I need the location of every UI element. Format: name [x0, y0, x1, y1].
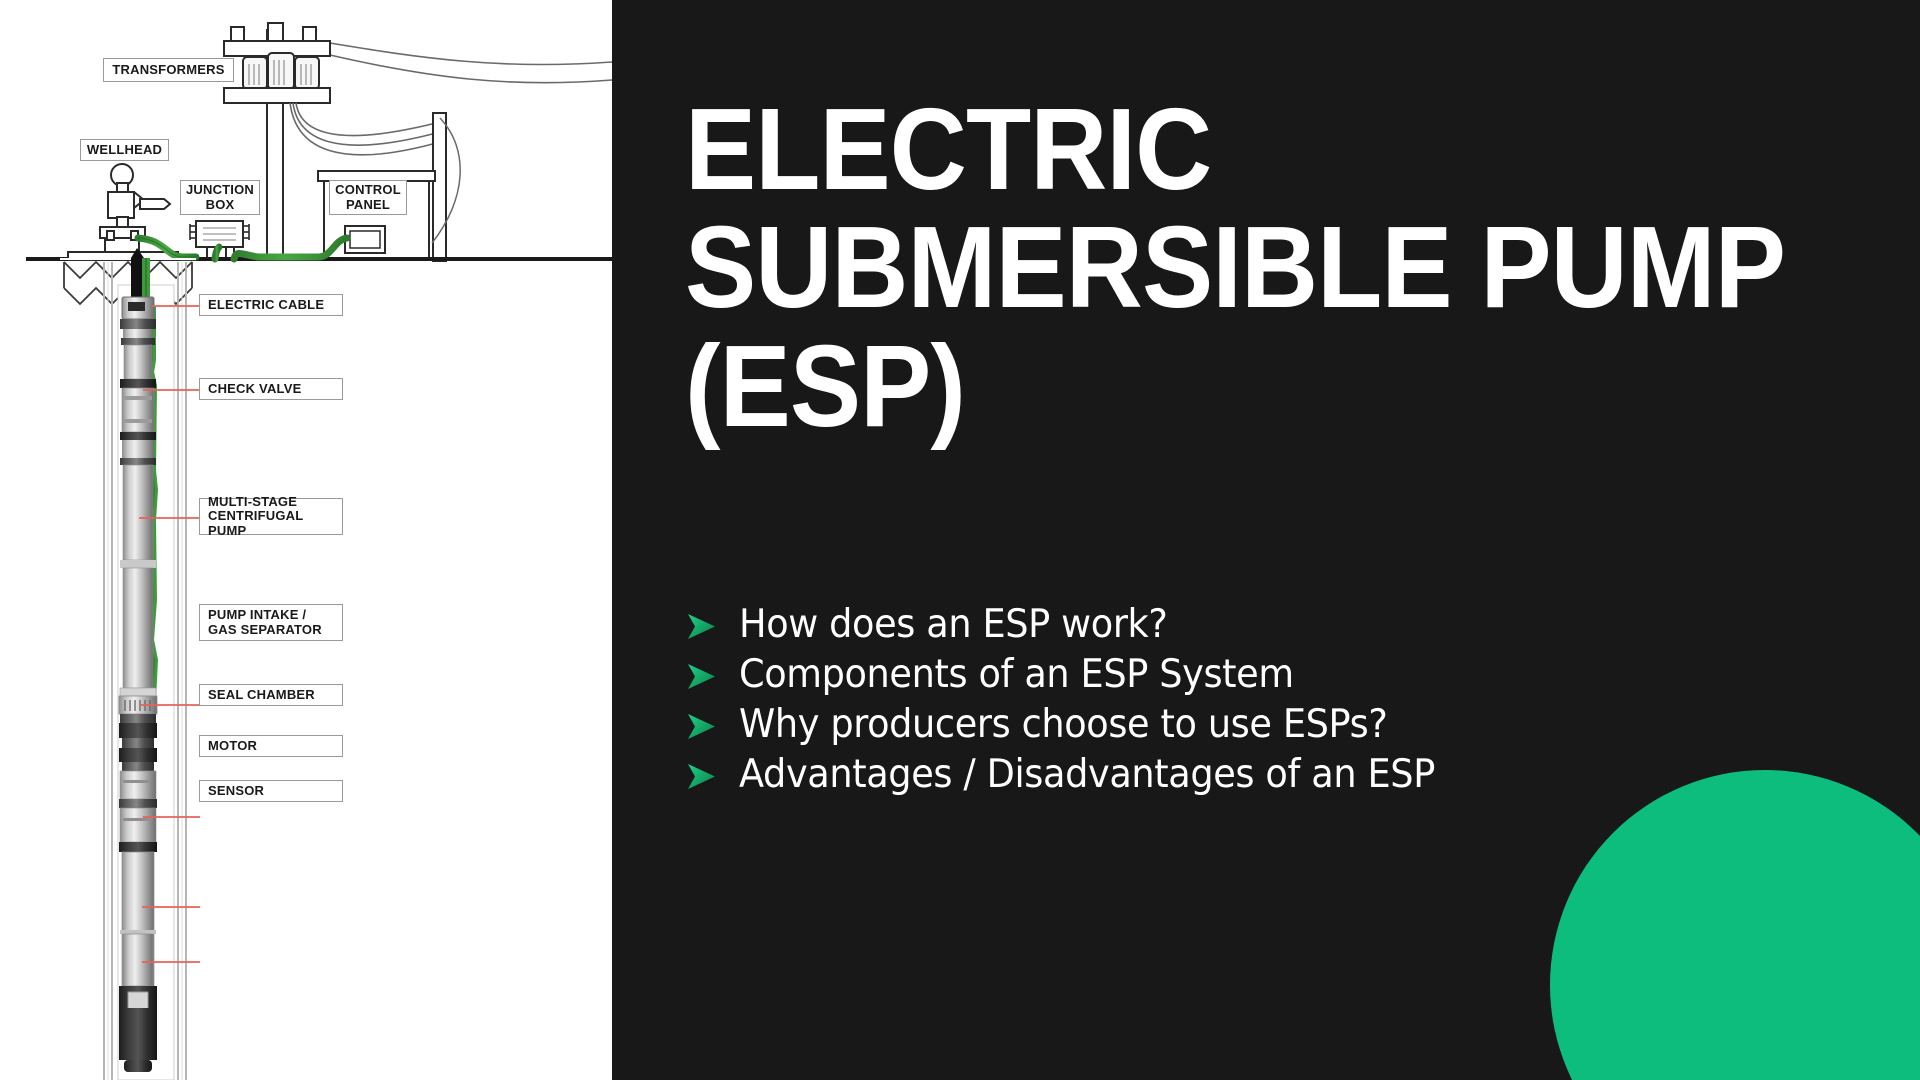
esp-equipment-string — [119, 297, 157, 1072]
slide-root: TRANSFORMERS WELLHEAD JUNCTION BOX CONTR… — [0, 0, 1920, 1080]
esp-schematic-drawing — [0, 0, 612, 1080]
label-electric-cable: ELECTRIC CABLE — [199, 294, 343, 316]
list-item: Advantages / Disadvantages of an ESP — [685, 755, 1865, 794]
arrow-right-icon — [685, 712, 717, 742]
list-item: Why producers choose to use ESPs? — [685, 705, 1865, 744]
label-junction-box: JUNCTION BOX — [180, 180, 260, 215]
arrow-right-icon — [685, 612, 717, 642]
title-line-2: SUBMERSIBLE PUMP — [685, 208, 1798, 326]
list-item-label: Advantages / Disadvantages of an ESP — [739, 755, 1435, 794]
label-pump-intake: PUMP INTAKE / GAS SEPARATOR — [199, 604, 343, 641]
title-panel: ELECTRIC SUBMERSIBLE PUMP (ESP) How — [612, 0, 1920, 1080]
list-item-label: Why producers choose to use ESPs? — [739, 705, 1387, 744]
list-item-label: How does an ESP work? — [739, 605, 1167, 644]
arrow-right-icon — [685, 762, 717, 792]
title-line-1: ELECTRIC — [685, 90, 1798, 208]
title-line-3: (ESP) — [685, 327, 1798, 445]
list-item: How does an ESP work? — [685, 605, 1865, 644]
page-title: ELECTRIC SUBMERSIBLE PUMP (ESP) — [685, 90, 1798, 445]
label-motor: MOTOR — [199, 735, 343, 757]
decorative-green-circle — [1550, 770, 1920, 1080]
arrow-right-icon — [685, 662, 717, 692]
label-control-panel: CONTROL PANEL — [329, 180, 407, 215]
list-item: Components of an ESP System — [685, 655, 1865, 694]
label-centrifugal-pump: MULTI-STAGE CENTRIFUGAL PUMP — [199, 498, 343, 535]
label-wellhead: WELLHEAD — [80, 139, 169, 161]
label-seal-chamber: SEAL CHAMBER — [199, 684, 343, 706]
esp-diagram-panel: TRANSFORMERS WELLHEAD JUNCTION BOX CONTR… — [0, 0, 612, 1080]
label-sensor: SENSOR — [199, 780, 343, 802]
agenda-list: How does an ESP work? Components of an E… — [685, 605, 1865, 805]
label-transformers: TRANSFORMERS — [103, 58, 234, 82]
label-check-valve: CHECK VALVE — [199, 378, 343, 400]
list-item-label: Components of an ESP System — [739, 655, 1294, 694]
